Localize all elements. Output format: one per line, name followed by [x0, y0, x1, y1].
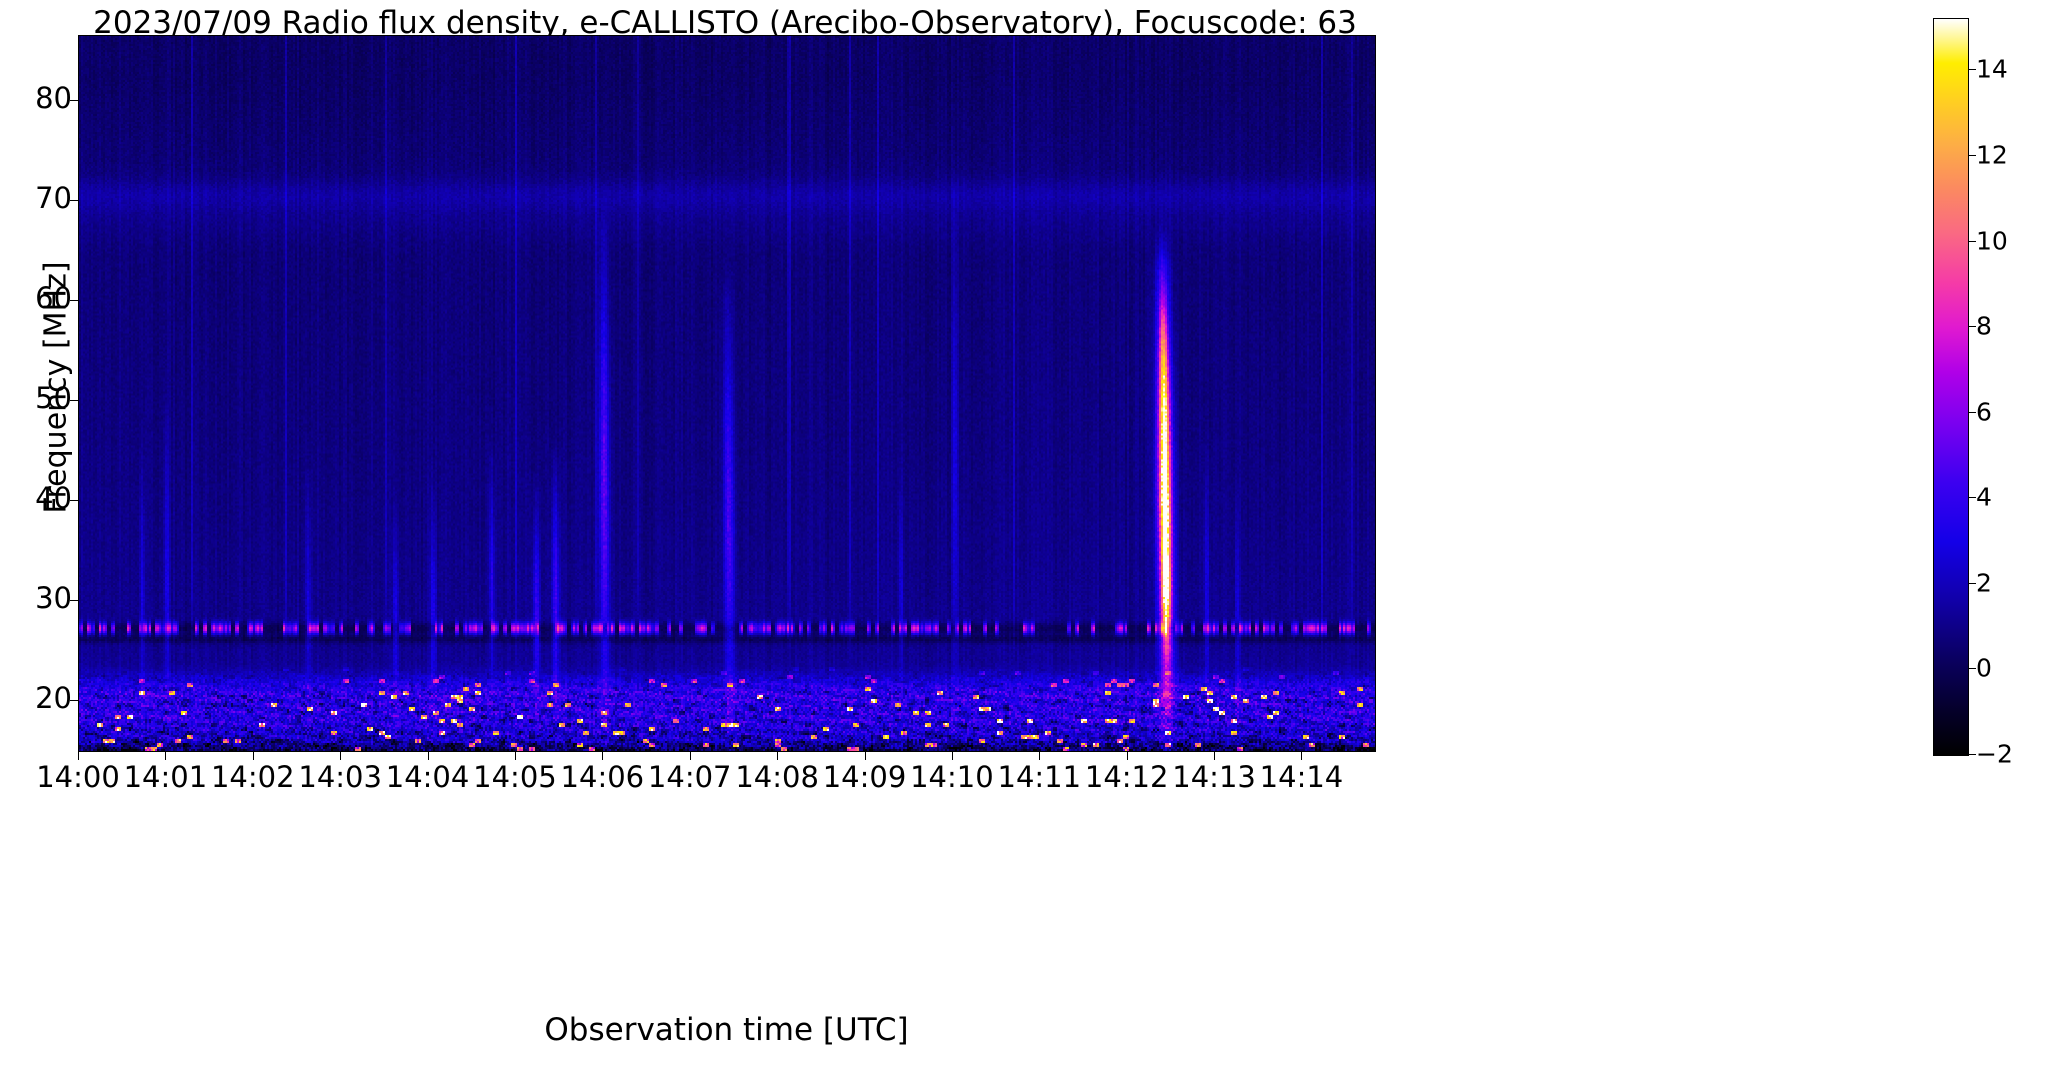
x-tick-label: 14:05 — [473, 760, 557, 794]
x-tick-label: 14:11 — [997, 760, 1081, 794]
x-tick-label: 14:09 — [823, 760, 907, 794]
y-tick-mark — [70, 600, 78, 601]
x-tick-label: 14:00 — [36, 760, 120, 794]
x-tick-mark — [1127, 751, 1128, 760]
x-tick-label: 14:14 — [1260, 760, 1344, 794]
x-tick-label: 14:02 — [211, 760, 295, 794]
x-tick-mark — [865, 751, 866, 760]
x-tick-label: 14:12 — [1085, 760, 1169, 794]
x-tick-label: 14:03 — [298, 760, 382, 794]
spectrogram-image — [79, 36, 1375, 751]
x-tick-label: 14:01 — [124, 760, 208, 794]
x-tick-mark — [777, 751, 778, 760]
colorbar-tick-label: 14 — [1976, 55, 2008, 84]
colorbar-tick-label: 8 — [1976, 312, 1992, 341]
x-tick-mark — [1039, 751, 1040, 760]
x-tick-label: 14:04 — [386, 760, 470, 794]
x-axis-label: Observation time [UTC] — [78, 1012, 1375, 1048]
x-tick-mark — [1301, 751, 1302, 760]
y-tick-mark — [70, 300, 78, 301]
x-tick-label: 14:07 — [648, 760, 732, 794]
colorbar-tick-label: 4 — [1976, 483, 1992, 512]
y-tick-mark — [70, 200, 78, 201]
colorbar-tick-mark — [1968, 583, 1976, 584]
colorbar-tick-label: 10 — [1976, 226, 2008, 255]
colorbar-tick-label: −2 — [1976, 740, 2013, 769]
y-tick-mark — [70, 700, 78, 701]
spectrogram-plot-area[interactable] — [78, 35, 1376, 752]
colorbar-tick-mark — [1968, 668, 1976, 669]
colorbar-tick-label: 12 — [1976, 140, 2008, 169]
x-tick-mark — [952, 751, 953, 760]
colorbar-label-container: dB above background — [2002, 106, 2042, 666]
colorbar-tick-mark — [1968, 69, 1976, 70]
y-tick-mark — [70, 500, 78, 501]
x-tick-label: 14:13 — [1172, 760, 1256, 794]
x-tick-mark — [165, 751, 166, 760]
x-tick-mark — [515, 751, 516, 760]
y-tick-label: 70 — [0, 181, 72, 215]
colorbar-tick-mark — [1968, 754, 1976, 755]
colorbar-tick-mark — [1968, 241, 1976, 242]
x-tick-label: 14:10 — [910, 760, 994, 794]
colorbar-tick-label: 2 — [1976, 568, 1992, 597]
colorbar-tick-mark — [1968, 412, 1976, 413]
colorbar-tick-mark — [1968, 155, 1976, 156]
colorbar-tick-label: 6 — [1976, 397, 1992, 426]
x-tick-label: 14:06 — [561, 760, 645, 794]
x-tick-mark — [428, 751, 429, 760]
x-tick-mark — [78, 751, 79, 760]
y-tick-label: 80 — [0, 81, 72, 115]
x-tick-mark — [602, 751, 603, 760]
x-tick-mark — [690, 751, 691, 760]
y-tick-label: 50 — [0, 381, 72, 415]
y-tick-mark — [70, 100, 78, 101]
y-tick-label: 30 — [0, 581, 72, 615]
colorbar-tick-mark — [1968, 326, 1976, 327]
y-tick-mark — [70, 400, 78, 401]
colorbar-tick-mark — [1968, 497, 1976, 498]
x-tick-mark — [253, 751, 254, 760]
y-tick-label: 20 — [0, 681, 72, 715]
colorbar[interactable] — [1933, 18, 1969, 756]
y-tick-label: 60 — [0, 281, 72, 315]
colorbar-tick-label: 0 — [1976, 654, 1992, 683]
x-tick-mark — [1214, 751, 1215, 760]
x-tick-mark — [340, 751, 341, 760]
figure-canvas: 2023/07/09 Radio flux density, e-CALLIST… — [0, 0, 2047, 1067]
x-tick-label: 14:08 — [735, 760, 819, 794]
y-tick-label: 40 — [0, 481, 72, 515]
